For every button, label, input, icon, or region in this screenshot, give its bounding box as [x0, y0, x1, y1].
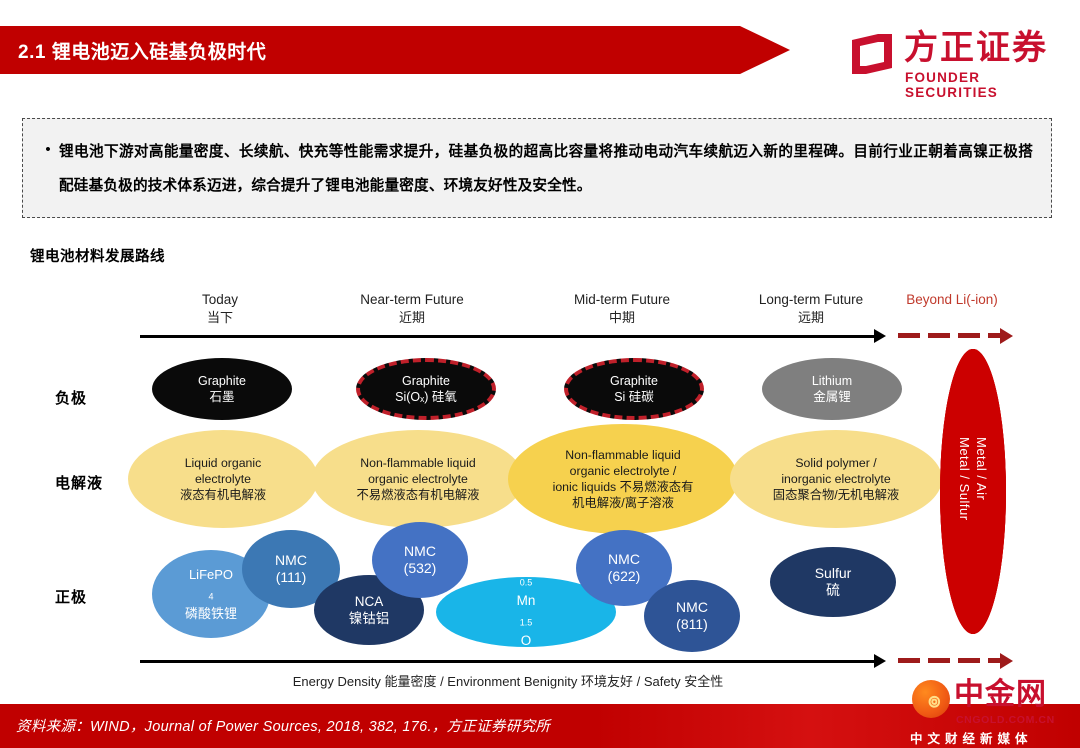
cath-nmc811-l1: NMC	[650, 599, 734, 616]
anode-graphite-en: Graphite	[158, 373, 286, 389]
bottom-axis-line	[140, 660, 876, 663]
beyond-pillar-text-2: Metal / Air	[973, 437, 990, 500]
elyte2-l3: 不易燃液态有机电解液	[318, 487, 518, 503]
roadmap-diagram: Today 当下 Near-term Future 近期 Mid-term Fu…	[0, 275, 1080, 685]
electrolyte-bubble-4[interactable]: Solid polymer / inorganic electrolyte 固态…	[730, 430, 942, 528]
elyte1-l1: Liquid organic	[134, 455, 312, 471]
row-label-cathode: 正极	[55, 586, 87, 607]
era-label-near-term: Near-term Future 近期	[332, 291, 492, 327]
bottom-axis-dash-3	[958, 658, 980, 663]
brand-name-cn: 方正证券	[904, 28, 1048, 68]
cath-nmc111-l1: NMC	[248, 552, 334, 569]
anode-si-cn: Si 硅碳	[574, 389, 694, 405]
era-label-today: Today 当下	[160, 291, 280, 327]
header-banner: 2.1 锂电池迈入硅基负极时代	[0, 26, 790, 74]
cath-nca-l2: 镍钴铝	[320, 610, 418, 627]
cath-nmc811-l2: (811)	[650, 616, 734, 633]
anode-bubble-graphite-si[interactable]: Graphite Si 硅碳	[564, 358, 704, 420]
brand-logo: 方正证券 FOUNDER SECURITIES	[848, 28, 1066, 90]
section-title: 锂电池材料发展路线	[30, 245, 165, 266]
cngold-swirl-icon: ๏	[928, 690, 950, 712]
cathode-bubble-nmc811[interactable]: NMC (811)	[644, 580, 740, 652]
page-title: 2.1 锂电池迈入硅基负极时代	[0, 37, 266, 64]
era-label-beyond: Beyond Li(-ion)	[892, 291, 1012, 309]
top-axis-dash-2	[928, 333, 950, 338]
anode-si-en: Graphite	[574, 373, 694, 389]
anode-bubble-graphite-siox[interactable]: Graphite Si(Oₓ) 硅氧	[356, 358, 496, 420]
elyte3-l1: Non-flammable liquid	[514, 447, 732, 463]
slide-root: 2.1 锂电池迈入硅基负极时代 方正证券 FOUNDER SECURITIES …	[0, 0, 1080, 748]
anode-bubble-lithium[interactable]: Lithium 金属锂	[762, 358, 902, 420]
electrolyte-bubble-1[interactable]: Liquid organic electrolyte 液态有机电解液	[128, 430, 318, 528]
anode-lithium-cn: 金属锂	[768, 389, 896, 405]
elyte3-l3: ionic liquids 不易燃液态有	[514, 479, 732, 495]
bullet-marker: •	[37, 135, 59, 203]
elyte3-l2: organic electrolyte /	[514, 463, 732, 479]
era-label-mid-term: Mid-term Future 中期	[542, 291, 702, 327]
top-axis-dash-1	[898, 333, 920, 338]
bullet-text: 锂电池下游对高能量密度、长续航、快充等性能需求提升，硅基负极的超高比容量将推动电…	[59, 135, 1033, 203]
anode-graphite-cn: 石墨	[158, 389, 286, 405]
beyond-pillar-text-1: Metal / Sulfur	[956, 437, 973, 521]
elyte4-l1: Solid polymer /	[736, 455, 936, 471]
anode-bubble-graphite[interactable]: Graphite 石墨	[152, 358, 292, 420]
watermark-tagline: 中文财经新媒体	[910, 728, 1033, 747]
elyte1-l3: 液态有机电解液	[134, 487, 312, 503]
bottom-axis-dash-1	[898, 658, 920, 663]
bottom-axis-dash-2	[928, 658, 950, 663]
source-text: 资料来源：WIND，Journal of Power Sources, 2018…	[16, 715, 550, 736]
elyte1-l2: electrolyte	[134, 471, 312, 487]
cath-nmc622-l2: (622)	[582, 568, 666, 585]
top-axis-dash-3	[958, 333, 980, 338]
bottom-axis-caption: Energy Density 能量密度 / Environment Benign…	[140, 671, 876, 690]
elyte2-l1: Non-flammable liquid	[318, 455, 518, 471]
cath-sulfur-l1: Sulfur	[776, 565, 890, 582]
key-point-box: • 锂电池下游对高能量密度、长续航、快充等性能需求提升，硅基负极的超高比容量将推…	[22, 118, 1052, 218]
anode-lithium-en: Lithium	[768, 373, 896, 389]
brand-name-en: FOUNDER SECURITIES	[905, 70, 1066, 100]
top-axis-arrowhead	[874, 329, 886, 343]
cath-nmc622-l1: NMC	[582, 551, 666, 568]
cathode-bubble-sulfur[interactable]: Sulfur 硫	[770, 547, 896, 617]
cngold-badge-icon: ๏	[912, 680, 950, 718]
anode-siox-cn: Si(Oₓ) 硅氧	[366, 389, 486, 405]
bottom-axis-arrowhead	[874, 654, 886, 668]
top-axis-line	[140, 335, 876, 338]
cath-nmc111-l2: (111)	[248, 569, 334, 586]
top-axis-dash-arrowhead	[1000, 328, 1013, 344]
elyte3-l4: 机电解液/离子溶液	[514, 495, 732, 511]
cath-lifepo4-cn: 磷酸铁锂	[158, 605, 264, 622]
row-label-electrolyte: 电解液	[55, 472, 103, 493]
elyte4-l2: inorganic electrolyte	[736, 471, 936, 487]
watermark-url: CNGOLD.COM.CN	[956, 714, 1055, 726]
elyte2-l2: organic electrolyte	[318, 471, 518, 487]
watermark-name: 中金网	[954, 676, 1047, 714]
cngold-watermark: ๏ 中金网 CNGOLD.COM.CN 中文财经新媒体	[904, 678, 1080, 748]
anode-siox-en: Graphite	[366, 373, 486, 389]
bottom-axis-dash-arrowhead	[1000, 653, 1013, 669]
elyte4-l3: 固态聚合物/无机电解液	[736, 487, 936, 503]
cath-sulfur-l2: 硫	[776, 582, 890, 599]
founder-square-mark-icon	[848, 30, 896, 78]
era-label-long-term: Long-term Future 远期	[730, 291, 892, 327]
electrolyte-bubble-3[interactable]: Non-flammable liquid organic electrolyte…	[508, 424, 738, 534]
row-label-anode: 负极	[55, 387, 87, 408]
electrolyte-bubble-2[interactable]: Non-flammable liquid organic electrolyte…	[312, 430, 524, 528]
